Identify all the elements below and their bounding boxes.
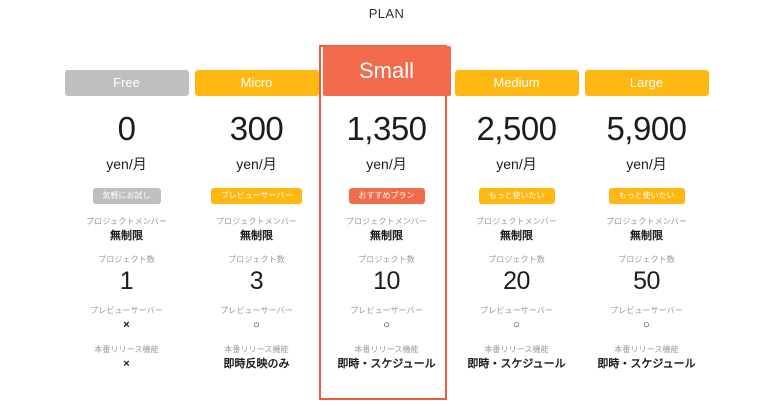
feature-label-preview: プレビューサーバー — [453, 305, 581, 317]
plan-badge-row-small: おすすめプラン — [323, 185, 451, 202]
feature-members-micro: プロジェクトメンバー 無制限 — [193, 216, 321, 244]
plan-header-free: Free — [65, 70, 189, 96]
plan-badge-medium: もっと使いたい — [479, 188, 555, 204]
feature-value-members-medium: 無制限 — [453, 228, 581, 244]
plan-header-large: Large — [585, 70, 709, 96]
feature-label-preview: プレビューサーバー — [63, 305, 191, 317]
feature-label-preview: プレビューサーバー — [323, 305, 451, 317]
feature-preview-free: プレビューサーバー × — [63, 305, 191, 333]
feature-value-projects-micro: 3 — [193, 266, 321, 296]
feature-label-preview: プレビューサーバー — [583, 305, 711, 317]
plan-header-small: Small — [323, 46, 451, 96]
feature-projects-small: プロジェクト数 10 — [323, 254, 451, 296]
feature-preview-micro: プレビューサーバー ○ — [193, 305, 321, 333]
feature-value-members-small: 無制限 — [323, 228, 451, 244]
feature-value-release-large: 即時・スケジュール — [583, 356, 711, 372]
plan-badge-row-free: 気軽にお試し — [63, 185, 191, 202]
circle-icon: ○ — [193, 317, 321, 333]
circle-icon: ○ — [323, 317, 451, 333]
plan-column-large[interactable]: Large 5,900 yen/月 もっと使いたい プロジェクトメンバー 無制限… — [583, 0, 711, 372]
plan-badge-row-large: もっと使いたい — [583, 185, 711, 202]
plan-price-unit-medium: yen/月 — [453, 154, 581, 174]
feature-projects-micro: プロジェクト数 3 — [193, 254, 321, 296]
feature-value-release-medium: 即時・スケジュール — [453, 356, 581, 372]
plan-column-medium[interactable]: Medium 2,500 yen/月 もっと使いたい プロジェクトメンバー 無制… — [453, 0, 581, 372]
cross-icon: × — [63, 356, 191, 372]
feature-value-members-micro: 無制限 — [193, 228, 321, 244]
feature-value-members-free: 無制限 — [63, 228, 191, 244]
feature-members-large: プロジェクトメンバー 無制限 — [583, 216, 711, 244]
circle-icon: ○ — [453, 317, 581, 333]
feature-value-members-large: 無制限 — [583, 228, 711, 244]
plan-header-medium: Medium — [455, 70, 579, 96]
plan-price-unit-free: yen/月 — [63, 154, 191, 174]
plan-column-free[interactable]: Free 0 yen/月 気軽にお試し プロジェクトメンバー 無制限 プロジェク… — [63, 0, 191, 372]
feature-label-members: プロジェクトメンバー — [323, 216, 451, 228]
pricing-plan-table: Free 0 yen/月 気軽にお試し プロジェクトメンバー 無制限 プロジェク… — [0, 0, 773, 406]
feature-release-micro: 本番リリース機能 即時反映のみ — [193, 344, 321, 372]
plan-column-micro[interactable]: Micro 300 yen/月 プレビューサーバー プロジェクトメンバー 無制限… — [193, 0, 321, 372]
feature-projects-free: プロジェクト数 1 — [63, 254, 191, 296]
feature-label-release: 本番リリース機能 — [583, 344, 711, 356]
feature-release-large: 本番リリース機能 即時・スケジュール — [583, 344, 711, 372]
plan-header-micro: Micro — [195, 70, 319, 96]
feature-label-projects: プロジェクト数 — [193, 254, 321, 266]
feature-label-release: 本番リリース機能 — [453, 344, 581, 356]
feature-label-members: プロジェクトメンバー — [453, 216, 581, 228]
feature-value-projects-medium: 20 — [453, 266, 581, 296]
plan-price-unit-micro: yen/月 — [193, 154, 321, 174]
feature-preview-medium: プレビューサーバー ○ — [453, 305, 581, 333]
feature-release-small: 本番リリース機能 即時・スケジュール — [323, 344, 451, 372]
feature-label-projects: プロジェクト数 — [453, 254, 581, 266]
plan-badge-row-micro: プレビューサーバー — [193, 185, 321, 202]
plan-price-small: 1,350 — [323, 112, 451, 147]
feature-release-free: 本番リリース機能 × — [63, 344, 191, 372]
feature-value-release-micro: 即時反映のみ — [193, 356, 321, 372]
feature-preview-large: プレビューサーバー ○ — [583, 305, 711, 333]
feature-label-members: プロジェクトメンバー — [583, 216, 711, 228]
feature-projects-medium: プロジェクト数 20 — [453, 254, 581, 296]
feature-value-projects-free: 1 — [63, 266, 191, 296]
cross-icon: × — [63, 317, 191, 333]
feature-value-projects-small: 10 — [323, 266, 451, 296]
feature-label-members: プロジェクトメンバー — [193, 216, 321, 228]
feature-projects-large: プロジェクト数 50 — [583, 254, 711, 296]
feature-release-medium: 本番リリース機能 即時・スケジュール — [453, 344, 581, 372]
feature-label-projects: プロジェクト数 — [323, 254, 451, 266]
plan-badge-free: 気軽にお試し — [93, 188, 161, 204]
feature-label-release: 本番リリース機能 — [323, 344, 451, 356]
feature-members-small: プロジェクトメンバー 無制限 — [323, 216, 451, 244]
plan-badge-large: もっと使いたい — [609, 188, 685, 204]
plan-price-medium: 2,500 — [453, 112, 581, 147]
plan-price-unit-large: yen/月 — [583, 154, 711, 174]
plan-price-unit-small: yen/月 — [323, 154, 451, 174]
feature-value-release-small: 即時・スケジュール — [323, 356, 451, 372]
plan-price-large: 5,900 — [583, 112, 711, 147]
feature-label-members: プロジェクトメンバー — [63, 216, 191, 228]
plan-badge-row-medium: もっと使いたい — [453, 185, 581, 202]
feature-label-projects: プロジェクト数 — [63, 254, 191, 266]
plan-badge-micro: プレビューサーバー — [211, 188, 303, 204]
plan-badge-small: おすすめプラン — [349, 188, 425, 204]
feature-preview-small: プレビューサーバー ○ — [323, 305, 451, 333]
feature-label-projects: プロジェクト数 — [583, 254, 711, 266]
feature-label-release: 本番リリース機能 — [63, 344, 191, 356]
feature-label-preview: プレビューサーバー — [193, 305, 321, 317]
plan-column-small[interactable]: Small 1,350 yen/月 おすすめプラン プロジェクトメンバー 無制限… — [323, 0, 451, 372]
plan-price-free: 0 — [63, 112, 191, 147]
plan-price-micro: 300 — [193, 112, 321, 147]
feature-label-release: 本番リリース機能 — [193, 344, 321, 356]
circle-icon: ○ — [583, 317, 711, 333]
feature-members-medium: プロジェクトメンバー 無制限 — [453, 216, 581, 244]
feature-members-free: プロジェクトメンバー 無制限 — [63, 216, 191, 244]
feature-value-projects-large: 50 — [583, 266, 711, 296]
